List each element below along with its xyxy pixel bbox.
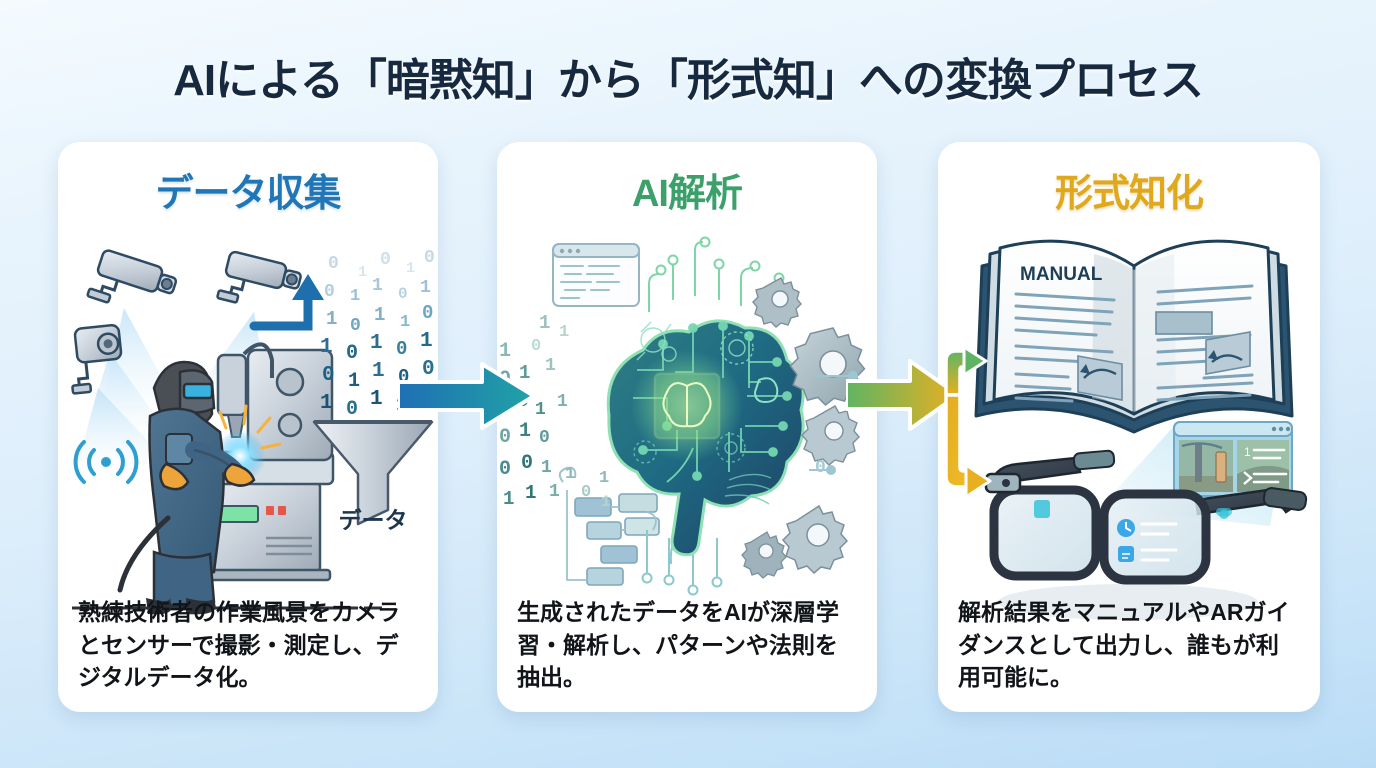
svg-text:0: 0 [517,390,529,413]
svg-text:1: 1 [396,394,407,416]
svg-text:1: 1 [565,465,575,484]
process-card-list: データ収集 [0,142,1376,714]
hud-panel-icon: 1 [1174,422,1292,496]
card-caption-data-collection: 熟練技術者の作業風景をカメラとセンサーで撮影・測定し、デジタルデータ化。 [58,596,438,694]
card-heading-data-collection: データ収集 [58,162,438,217]
card-heading-ai-analysis: AI解析 [497,162,877,217]
svg-text:1: 1 [370,332,383,355]
svg-text:1: 1 [541,458,552,478]
svg-text:0: 0 [398,366,409,388]
svg-text:1: 1 [549,482,560,502]
svg-text:1: 1 [499,340,511,363]
svg-text:1: 1 [420,386,433,409]
svg-text:1: 1 [535,400,546,420]
svg-text:0: 0 [815,458,826,478]
process-card-explicit-knowledge[interactable]: 形式知化 [938,142,1320,712]
svg-text:0: 0 [396,338,407,360]
svg-text:1: 1 [320,392,333,415]
svg-text:1: 1 [545,356,556,376]
svg-text:0: 0 [350,316,361,336]
svg-text:0: 0 [499,368,511,391]
cpu-chip-icon [631,350,743,462]
svg-text:1: 1 [372,360,385,383]
gear-icon [753,278,801,327]
svg-text:1: 1 [559,323,569,342]
illustration-manual-and-ar-glasses: MANUAL [938,220,1320,620]
gear-icon [742,532,786,578]
svg-text:1: 1 [420,330,433,353]
svg-text:1: 1 [519,362,530,384]
svg-text:0: 0 [581,483,591,502]
svg-text:0: 0 [398,285,408,303]
svg-text:0: 0 [521,452,533,475]
diagram-thumbnail [1078,356,1122,400]
process-card-data-collection[interactable]: データ収集 [58,142,438,712]
svg-text:0: 0 [346,342,358,365]
svg-text:1: 1 [599,469,609,488]
code-window-icon [553,244,639,306]
svg-text:1: 1 [326,308,337,330]
svg-text:1: 1 [374,304,385,326]
svg-text:0: 0 [322,364,335,387]
security-camera-icon [217,250,303,316]
svg-text:0: 0 [499,426,511,449]
svg-text:1: 1 [320,336,333,359]
funnel-label: データ [339,507,408,533]
open-book-icon: MANUAL [976,241,1292,432]
page-title: AIによる「暗黙知」から「形式知」への変換プロセス [0,44,1376,108]
svg-text:0: 0 [424,248,435,268]
svg-text:0: 0 [422,358,435,381]
svg-text:0: 0 [346,398,358,421]
ar-glasses-icon: 1 [986,422,1307,620]
svg-text:1: 1 [372,276,383,296]
card-caption-explicit-knowledge: 解析結果をマニュアルやARガイダンスとして出力し、誰もが利用可能に。 [938,596,1320,694]
gear-icon [783,506,847,573]
svg-text:0: 0 [422,302,433,324]
svg-text:1: 1 [370,388,383,411]
svg-text:1: 1 [1244,445,1251,459]
svg-text:0: 0 [531,337,541,356]
svg-text:0: 0 [380,250,391,270]
svg-text:0: 0 [499,458,511,481]
svg-text:1: 1 [358,264,367,281]
svg-text:1: 1 [420,278,431,298]
illustration-circuit-brain-with-gears: 1 1 0 1 0 1 1 1 0 1 1 1 0 0 0 0 1 [497,220,877,620]
svg-text:0: 0 [324,282,335,302]
svg-text:1: 1 [350,287,360,306]
binary-rain: 0 1 0 1 0 0 1 1 0 1 1 0 1 1 0 1 0 [320,248,435,421]
svg-text:1: 1 [503,488,514,510]
svg-text:1: 1 [525,482,536,504]
svg-text:1: 1 [601,493,611,511]
flowchart-icon [560,468,659,585]
svg-text:1: 1 [400,313,410,332]
process-card-ai-analysis[interactable]: AI解析 [497,142,877,712]
svg-text:0: 0 [328,254,339,274]
svg-text:1: 1 [406,260,415,277]
svg-text:1: 1 [539,312,550,334]
illustration-welder-with-cameras-and-funnel: 0 1 0 1 0 0 1 1 0 1 1 0 1 1 0 1 0 [58,220,438,620]
security-camera-icon [87,248,179,320]
card-heading-explicit-knowledge: 形式知化 [938,162,1320,217]
book-cover-label: MANUAL [1020,264,1103,285]
gear-icon [802,406,859,465]
svg-text:1: 1 [348,370,360,393]
svg-text:1: 1 [557,392,568,412]
diagram-thumbnail [1206,332,1250,374]
card-caption-ai-analysis: 生成されたデータをAIが深層学習・解析し、パターンや法則を抽出。 [497,596,877,694]
svg-text:1: 1 [499,396,511,419]
svg-text:1: 1 [519,420,531,443]
svg-text:0: 0 [539,428,550,448]
